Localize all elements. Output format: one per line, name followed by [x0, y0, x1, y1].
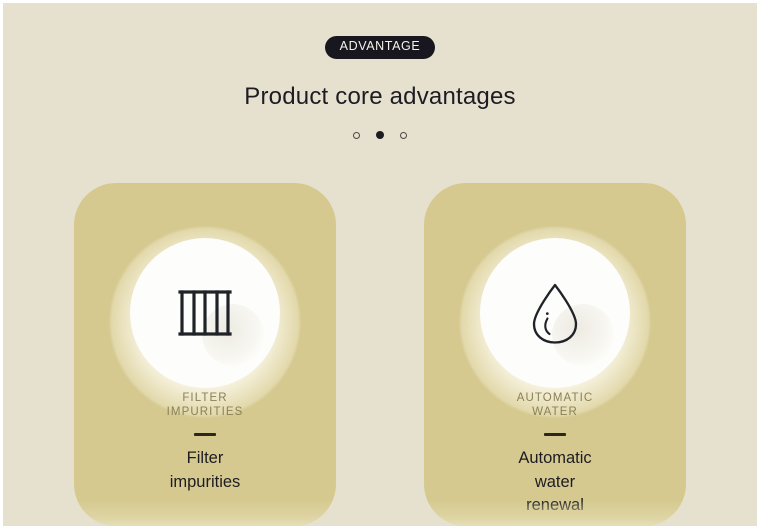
carousel-dots[interactable] — [3, 131, 757, 139]
card-bottom-fade — [424, 500, 686, 526]
water-drop-icon — [526, 280, 584, 346]
card-kicker-line-2: IMPURITIES — [92, 405, 318, 419]
icon-circle — [480, 238, 630, 388]
advantage-card-automatic-water[interactable]: AUTOMATIC WATER Automatic water renewal — [424, 183, 686, 526]
filter-bars-icon — [174, 282, 236, 344]
carousel-dot-2-active[interactable] — [376, 131, 384, 139]
card-title-line-2: water — [442, 471, 668, 494]
card-kicker-line-1: FILTER — [92, 391, 318, 405]
advantage-section: ADVANTAGE Product core advantages — [3, 3, 757, 526]
card-title: Filter impurities — [92, 447, 318, 494]
carousel-dot-1[interactable] — [353, 132, 360, 139]
card-text-block: FILTER IMPURITIES Filter impurities — [74, 391, 336, 494]
card-divider — [194, 433, 216, 437]
card-title-line-1: Filter — [92, 447, 318, 470]
card-kicker: AUTOMATIC WATER — [442, 391, 668, 420]
card-kicker-line-1: AUTOMATIC — [442, 391, 668, 405]
page-title: Product core advantages — [3, 83, 757, 111]
advantage-card-filter-impurities[interactable]: FILTER IMPURITIES Filter impurities — [74, 183, 336, 526]
card-title-line-1: Automatic — [442, 447, 668, 470]
card-text-block: AUTOMATIC WATER Automatic water renewal — [424, 391, 686, 518]
icon-circle — [130, 238, 280, 388]
card-kicker: FILTER IMPURITIES — [92, 391, 318, 420]
advantage-card-list: FILTER IMPURITIES Filter impurities — [3, 183, 757, 526]
advantage-badge: ADVANTAGE — [325, 36, 436, 59]
card-divider — [544, 433, 566, 437]
carousel-dot-3[interactable] — [400, 132, 407, 139]
card-bottom-fade — [74, 500, 336, 526]
badge-row: ADVANTAGE — [3, 36, 757, 59]
card-kicker-line-2: WATER — [442, 405, 668, 419]
card-title-line-2: impurities — [92, 471, 318, 494]
